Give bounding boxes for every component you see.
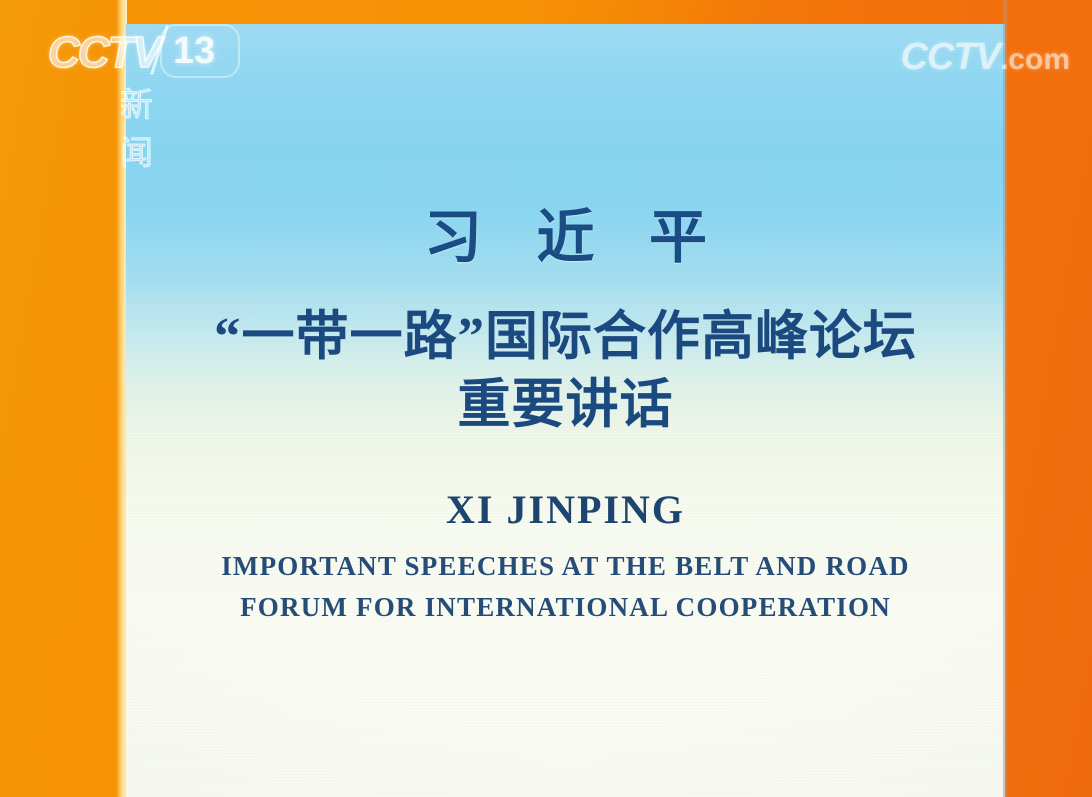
book-title-english-line2: FORUM FOR INTERNATIONAL COOPERATION — [126, 592, 1005, 623]
book-author-english: XI JINPING — [126, 486, 1005, 533]
book-title-english-line1: IMPORTANT SPEECHES AT THE BELT AND ROAD — [126, 551, 1005, 582]
lower-third: 新闻联播 XINWEN LIANBO 《习近平"一带一路"国际合作高峰论坛 重要… — [0, 677, 1092, 797]
watermark-suffix: .com — [1000, 43, 1070, 76]
broadcast-root: 习 近 平 “一带一路”国际合作高峰论坛 重要讲话 XI JINPING IMP… — [0, 0, 1092, 797]
book-title-chinese-line2: 重要讲话 — [126, 362, 1005, 438]
book-title-chinese-line1: “一带一路”国际合作高峰论坛 — [126, 294, 1005, 370]
book-author-chinese: 习 近 平 — [126, 190, 1005, 274]
